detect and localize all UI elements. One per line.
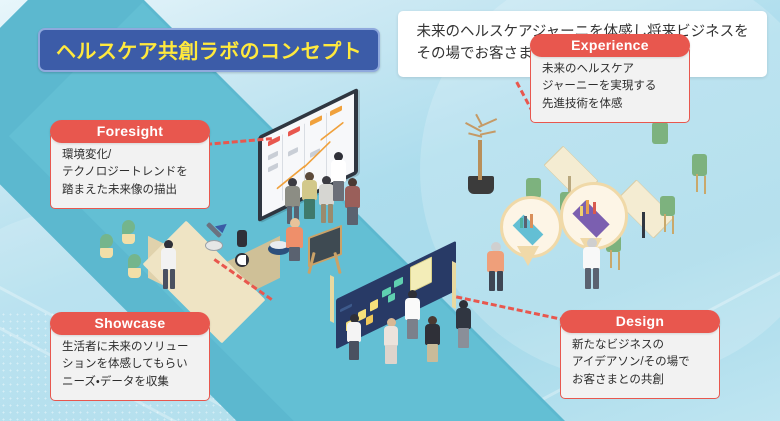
callout-foresight-line-3: 踏まえた未来像の描出	[62, 182, 199, 199]
bowl-device	[268, 243, 290, 255]
callout-experience-line-1: 未来のヘルスケア	[542, 61, 679, 78]
callout-foresight-line-2: テクノロジートレンドを	[62, 164, 199, 181]
callout-showcase-body: 生活者に未来のソリュー ションを体感してもらい ニーズ・データを収集	[50, 324, 210, 401]
callout-experience-badge: Experience	[530, 34, 690, 57]
callout-experience-line-3: 先進技術を体感	[542, 96, 679, 113]
cafe-chair	[652, 122, 668, 144]
callout-experience[interactable]: Experience 未来のヘルスケア ジャーニーを実現する 先進技術を体感	[530, 34, 690, 123]
callout-design-body: 新たなビジネスの アイデアソン/その場で お客さまとの共創	[560, 322, 720, 399]
callout-showcase-line-2: ションを体感してもらい	[62, 356, 199, 373]
tree-trunk	[478, 140, 482, 180]
callout-design-line-2: アイデアソン/その場で	[572, 354, 709, 371]
callout-showcase-line-1: 生活者に未来のソリュー	[62, 339, 199, 356]
vr-headset-device	[206, 222, 222, 238]
robot-vacuum-device	[205, 240, 223, 251]
cafe-chair	[526, 178, 541, 198]
callout-design-line-3: お客さまとの共創	[572, 372, 709, 389]
showcase-table-side	[148, 236, 214, 310]
callout-design-line-1: 新たなビジネスの	[572, 337, 709, 354]
cafe-chair	[692, 154, 707, 176]
cafe-chair	[606, 232, 621, 252]
cafe-chair	[660, 196, 675, 216]
page-title: ヘルスケア共創ラボのコンセプト	[38, 28, 380, 72]
smart-speaker-device	[237, 230, 247, 247]
callout-showcase[interactable]: Showcase 生活者に未来のソリュー ションを体感してもらい ニーズ・データ…	[50, 312, 210, 401]
connector-foresight	[206, 137, 272, 146]
callout-foresight-body: 環境変化/ テクノロジートレンドを 踏まえた未来像の描出	[50, 132, 210, 209]
connector-design	[456, 295, 566, 321]
callout-experience-body: 未来のヘルスケア ジャーニーを実現する 先進技術を体感	[530, 46, 690, 123]
callout-design-badge: Design	[560, 310, 720, 333]
callout-foresight[interactable]: Foresight 環境変化/ テクノロジートレンドを 踏まえた未来像の描出	[50, 120, 210, 209]
idea-wall-board	[336, 241, 456, 350]
wearable-device	[235, 253, 249, 267]
roadmap-display-board	[258, 88, 358, 223]
cafe-chair	[560, 192, 575, 212]
callout-design[interactable]: Design 新たなビジネスの アイデアソン/その場で お客さまとの共創	[560, 310, 720, 399]
callout-foresight-badge: Foresight	[50, 120, 210, 143]
mini-plant-pot	[128, 268, 141, 278]
callout-showcase-badge: Showcase	[50, 312, 210, 335]
connector-showcase	[213, 258, 272, 301]
callout-foresight-line-1: 環境変化/	[62, 147, 199, 164]
callout-showcase-line-3: ニーズ・データを収集	[62, 374, 199, 391]
mini-plant-pot	[100, 248, 113, 258]
mini-plant-pot	[122, 234, 135, 244]
showcase-table-side	[214, 236, 280, 310]
callout-experience-line-2: ジャーニーを実現する	[542, 78, 679, 95]
concept-diagram-canvas: ヘルスケア共創ラボのコンセプト 未来のヘルスケアジャーニを体感し将来ビジネスを …	[0, 0, 780, 421]
tablet-device	[215, 222, 229, 235]
